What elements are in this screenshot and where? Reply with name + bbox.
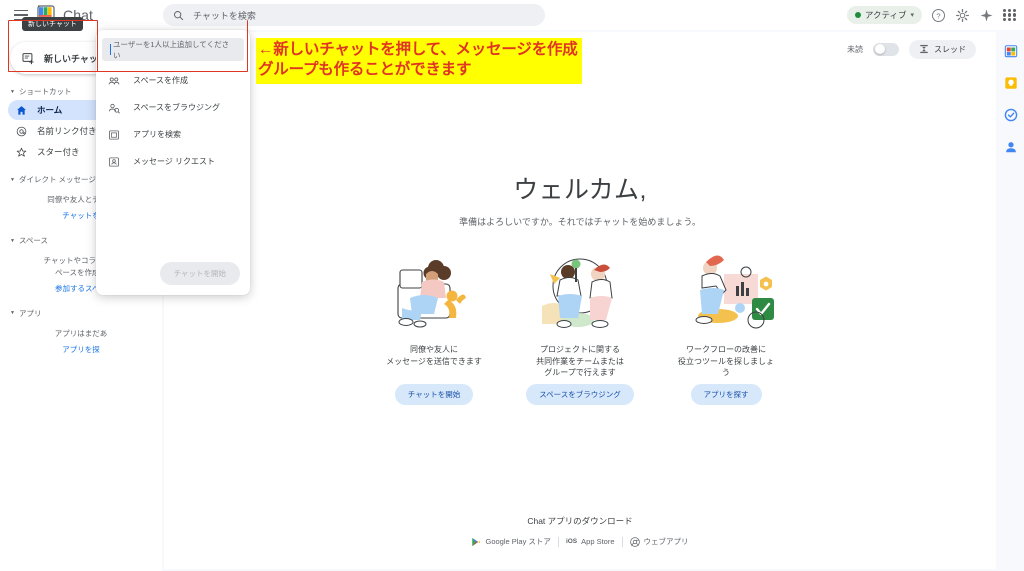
main-content: 未読 スレッド ウェルカム, 準備はよろしいですか。それではチャットを始めましょ… — [164, 32, 996, 569]
google-contacts-icon[interactable] — [1004, 140, 1018, 154]
status-dot — [855, 12, 861, 18]
sidebar-item-starred-label: スター付き — [37, 146, 80, 158]
message-requests-icon — [108, 156, 122, 168]
sidebar-section-shortcuts-label: ショートカット — [19, 86, 72, 97]
menu-item-find-apps-label: アプリを検索 — [133, 129, 181, 140]
new-chat-compose-icon — [22, 52, 35, 65]
sidebar-section-dm-label: ダイレクト メッセージ — [19, 174, 96, 185]
chevron-down-icon: ▾ — [910, 11, 914, 19]
status-badge[interactable]: アクティブ ▾ — [847, 6, 922, 24]
add-people-input[interactable]: ユーザーを1人以上追加してください — [102, 38, 244, 61]
illustration-person-with-tools — [667, 252, 785, 334]
annotation-overlay: ←新しいチャットを押して、メッセージを作成 グループも作ることができます — [256, 38, 582, 84]
divider — [622, 537, 623, 547]
help-icon[interactable]: ? — [931, 8, 946, 23]
search-placeholder: チャットを検索 — [193, 9, 256, 22]
star-icon — [16, 147, 29, 158]
app-store-link[interactable]: iOS App Store — [566, 537, 615, 546]
ios-label: iOS — [566, 538, 577, 545]
menu-item-find-apps[interactable]: アプリを検索 — [96, 121, 250, 148]
gemini-sparkle-icon[interactable] — [979, 8, 994, 23]
find-apps-icon — [108, 129, 122, 141]
menu-item-create-space-label: スペースを作成 — [133, 75, 188, 86]
sidebar-item-mentions-label: 名前リンク付き — [37, 125, 97, 137]
welcome-subtitle: 準備はよろしいですか。それではチャットを始めましょう。 — [164, 215, 996, 228]
download-title: Chat アプリのダウンロード — [164, 515, 996, 527]
google-play-link[interactable]: Google Play ストア — [471, 536, 550, 547]
sidebar-section-apps[interactable]: ▼ アプリ — [10, 308, 162, 319]
google-keep-icon[interactable] — [1004, 76, 1018, 90]
menu-item-browse-spaces[interactable]: スペースをブラウジング — [96, 94, 250, 121]
apps-empty-text: アプリはまだあ — [10, 328, 152, 339]
threads-icon — [919, 44, 929, 54]
start-chat-submit-button: チャットを開始 — [160, 262, 240, 285]
google-apps-grid-icon[interactable] — [1003, 9, 1016, 22]
top-bar: Chat チャットを検索 アクティブ ▾ ? — [0, 0, 1024, 30]
text-caret — [110, 44, 111, 55]
dm-empty-link[interactable]: チャットを — [62, 210, 99, 221]
chevron-down-icon: ▼ — [10, 238, 15, 244]
sidebar-section-apps-label: アプリ — [19, 308, 42, 319]
status-label: アクティブ — [865, 9, 907, 21]
feature-cards: 同僚や友人に メッセージを送信できます チャットを開始 — [164, 252, 996, 405]
gear-icon[interactable] — [955, 8, 970, 23]
toggle-knob — [875, 44, 885, 54]
chevron-down-icon: ▼ — [10, 89, 15, 95]
menu-item-message-requests-label: メッセージ リクエスト — [133, 156, 215, 167]
menu-item-browse-spaces-label: スペースをブラウジング — [133, 102, 220, 113]
chrome-icon — [630, 537, 640, 547]
feature-card-chat: 同僚や友人に メッセージを送信できます チャットを開始 — [375, 252, 493, 405]
feature-card-apps: ワークフローの改善に 役立つツールを探しましょ う アプリを探す — [667, 252, 785, 405]
apps-empty-state: アプリはまだあ アプリを探 — [0, 322, 162, 357]
threads-button[interactable]: スレッド — [909, 40, 976, 59]
annotation-line-2: グループも作ることができます — [258, 60, 578, 80]
right-side-rail — [998, 30, 1024, 571]
top-right-actions: アクティブ ▾ ? — [847, 3, 1016, 27]
annotation-line-1: ←新しいチャットを押して、メッセージを作成 — [258, 40, 578, 60]
google-play-icon — [471, 537, 481, 547]
chevron-down-icon: ▼ — [10, 177, 15, 183]
sidebar-section-spaces-label: スペース — [19, 235, 48, 246]
feature-card-spaces: プロジェクトに関する 共同作業をチームまたは グループで行えます スペースをブラ… — [521, 252, 639, 405]
feature-card-apps-text: ワークフローの改善に 役立つツールを探しましょ う — [667, 344, 785, 380]
web-app-link[interactable]: ウェブアプリ — [630, 536, 689, 547]
menu-item-message-requests[interactable]: メッセージ リクエスト — [96, 148, 250, 175]
feature-card-chat-text: 同僚や友人に メッセージを送信できます — [375, 344, 493, 380]
sidebar-item-home-label: ホーム — [37, 104, 62, 116]
welcome-title: ウェルカム, — [164, 170, 996, 206]
welcome-block: ウェルカム, 準備はよろしいですか。それではチャットを始めましょう。 — [164, 170, 996, 228]
google-tasks-icon[interactable] — [1004, 108, 1018, 122]
main-panel: 未読 スレッド ウェルカム, 準備はよろしいですか。それではチャットを始めましょ… — [162, 30, 998, 571]
browse-spaces-icon — [108, 102, 122, 114]
divider — [558, 537, 559, 547]
svg-text:?: ? — [936, 11, 940, 20]
google-calendar-icon[interactable] — [1004, 44, 1018, 58]
dropdown-footer: チャットを開始 — [96, 262, 250, 295]
new-chat-tooltip: 新しいチャット — [22, 17, 83, 31]
create-space-icon — [108, 75, 122, 87]
search-icon — [173, 10, 184, 21]
google-chat-app: Chat チャットを検索 アクティブ ▾ ? — [0, 0, 1024, 571]
illustration-person-with-cat — [375, 252, 493, 334]
browse-spaces-button[interactable]: スペースをブラウジング — [526, 384, 634, 405]
app-store-label: App Store — [581, 537, 614, 546]
apps-empty-link[interactable]: アプリを探 — [62, 344, 100, 355]
unread-label: 未読 — [847, 44, 863, 55]
start-chat-button[interactable]: チャットを開始 — [395, 384, 473, 405]
unread-toggle[interactable] — [873, 43, 899, 56]
find-apps-button[interactable]: アプリを探す — [691, 384, 762, 405]
threads-label: スレッド — [934, 44, 966, 55]
search-input[interactable]: チャットを検索 — [163, 4, 545, 26]
add-people-placeholder: ユーザーを1人以上追加してください — [113, 39, 236, 61]
new-chat-dropdown: ユーザーを1人以上追加してください スペースを作成 — [96, 30, 250, 295]
web-app-label: ウェブアプリ — [644, 536, 689, 547]
feature-card-spaces-text: プロジェクトに関する 共同作業をチームまたは グループで行えます — [521, 344, 639, 380]
illustration-two-people-collaborating — [521, 252, 639, 334]
google-play-label: Google Play ストア — [485, 536, 550, 547]
home-icon — [16, 105, 29, 116]
mention-at-icon — [16, 126, 29, 137]
download-section: Chat アプリのダウンロード Google Play ストア iOS — [164, 515, 996, 547]
menu-item-create-space[interactable]: スペースを作成 — [96, 67, 250, 94]
download-links: Google Play ストア iOS App Store — [164, 536, 996, 547]
chevron-down-icon: ▼ — [10, 310, 15, 316]
dropdown-menu-list: スペースを作成 スペースをブラウジング — [96, 67, 250, 262]
